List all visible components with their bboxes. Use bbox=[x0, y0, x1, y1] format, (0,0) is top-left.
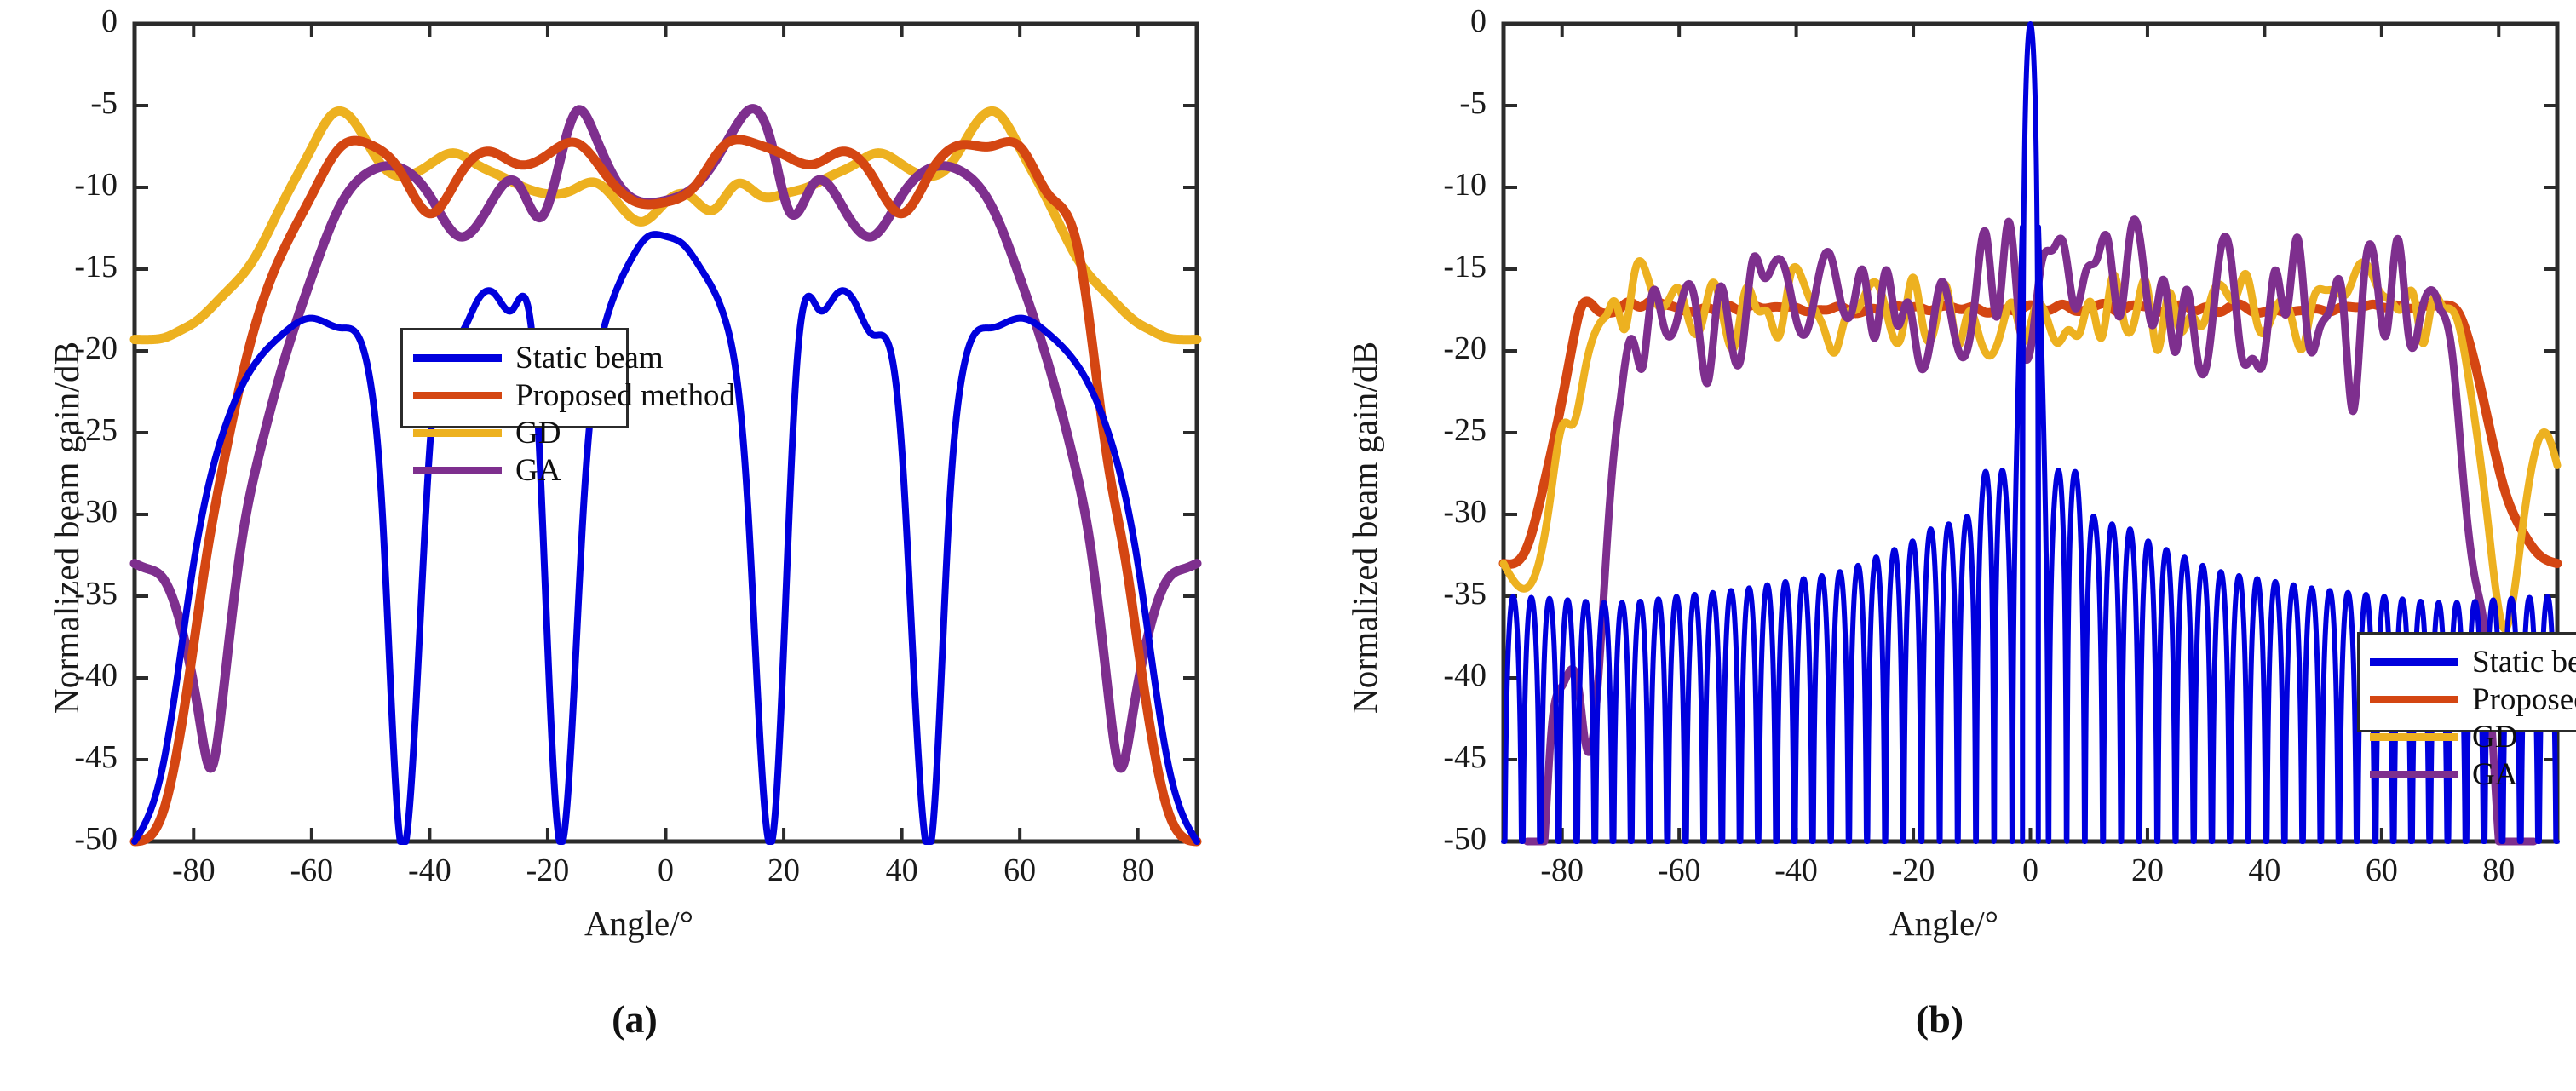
x-tick-label: -40 bbox=[378, 852, 480, 889]
x-tick-label: -20 bbox=[1862, 852, 1964, 889]
y-tick-label: -25 bbox=[1376, 411, 1486, 449]
x-tick-label: -80 bbox=[1511, 852, 1613, 889]
legend-color-swatch bbox=[2370, 733, 2458, 741]
y-tick-label: -35 bbox=[1376, 575, 1486, 612]
y-tick-label: 0 bbox=[7, 3, 118, 40]
legend-item[interactable]: Static beam bbox=[2360, 643, 2576, 680]
y-tick-label: -25 bbox=[7, 411, 118, 449]
legend-item[interactable]: Proposed method bbox=[403, 376, 626, 414]
x-tick-label: 0 bbox=[615, 852, 717, 889]
legend-item-label: Static beam bbox=[515, 342, 664, 374]
y-tick-label: -40 bbox=[1376, 657, 1486, 694]
legend-item[interactable]: GA bbox=[2360, 755, 2576, 793]
x-tick-label: 40 bbox=[851, 852, 953, 889]
legend-item-label: Proposed method bbox=[2472, 684, 2576, 715]
legend-item[interactable]: GD bbox=[2360, 718, 2576, 755]
y-tick-label: -45 bbox=[7, 738, 118, 776]
y-tick-label: -30 bbox=[7, 493, 118, 531]
beampattern-figure: Normalized beam gain/dB Angle/° (a) Stat… bbox=[0, 0, 2576, 1091]
y-tick-label: -10 bbox=[1376, 166, 1486, 204]
x-tick-label: -60 bbox=[1628, 852, 1730, 889]
legend-color-swatch bbox=[413, 467, 502, 474]
y-tick-label: -5 bbox=[7, 84, 118, 122]
x-tick-label: -60 bbox=[261, 852, 363, 889]
y-tick-label: -40 bbox=[7, 657, 118, 694]
y-tick-label: -45 bbox=[1376, 738, 1486, 776]
y-tick-label: -15 bbox=[1376, 248, 1486, 285]
panel-b-caption: (b) bbox=[1884, 996, 1995, 1042]
legend-item[interactable]: Proposed method bbox=[2360, 680, 2576, 718]
panel-b-legend: Static beamProposed methodGDGA bbox=[2357, 632, 2576, 732]
y-tick-label: -20 bbox=[7, 330, 118, 367]
x-tick-label: -80 bbox=[142, 852, 244, 889]
panel-b-x-axis-label: Angle/° bbox=[1833, 903, 2055, 944]
legend-color-swatch bbox=[413, 392, 502, 399]
y-tick-label: -50 bbox=[7, 820, 118, 858]
legend-color-swatch bbox=[413, 354, 502, 362]
legend-color-swatch bbox=[2370, 771, 2458, 778]
legend-color-swatch bbox=[413, 429, 502, 437]
panel-a: Normalized beam gain/dB Angle/° (a) Stat… bbox=[0, 0, 1288, 1091]
y-tick-label: -10 bbox=[7, 166, 118, 204]
y-tick-label: -20 bbox=[1376, 330, 1486, 367]
y-tick-label: -35 bbox=[7, 575, 118, 612]
x-tick-label: 20 bbox=[2096, 852, 2199, 889]
legend-item-label: Proposed method bbox=[515, 380, 735, 411]
y-tick-label: -30 bbox=[1376, 493, 1486, 531]
x-tick-label: 60 bbox=[969, 852, 1071, 889]
x-tick-label: -40 bbox=[1745, 852, 1848, 889]
legend-item[interactable]: Static beam bbox=[403, 339, 626, 376]
x-tick-label: 80 bbox=[2447, 852, 2550, 889]
legend-color-swatch bbox=[2370, 658, 2458, 666]
y-tick-label: -50 bbox=[1376, 820, 1486, 858]
y-tick-label: -15 bbox=[7, 248, 118, 285]
legend-color-swatch bbox=[2370, 696, 2458, 703]
legend-item-label: GA bbox=[515, 455, 561, 486]
x-tick-label: 60 bbox=[2331, 852, 2433, 889]
x-tick-label: 40 bbox=[2213, 852, 2315, 889]
legend-item[interactable]: GD bbox=[403, 414, 626, 451]
panel-a-legend: Static beamProposed methodGDGA bbox=[400, 328, 629, 428]
x-tick-label: 80 bbox=[1087, 852, 1189, 889]
legend-item-label: GD bbox=[515, 417, 561, 449]
panel-a-caption: (a) bbox=[579, 996, 690, 1042]
panel-b: Angle/° (b) Static beamProposed methodGD… bbox=[1288, 0, 2576, 1091]
legend-item[interactable]: GA bbox=[403, 451, 626, 489]
x-tick-label: -20 bbox=[497, 852, 599, 889]
panel-a-x-axis-label: Angle/° bbox=[528, 903, 750, 944]
legend-item-label: Static beam bbox=[2472, 646, 2576, 678]
y-tick-label: 0 bbox=[1376, 3, 1486, 40]
y-tick-label: -5 bbox=[1376, 84, 1486, 122]
legend-item-label: GA bbox=[2472, 759, 2517, 790]
x-tick-label: 20 bbox=[733, 852, 835, 889]
legend-item-label: GD bbox=[2472, 721, 2517, 753]
x-tick-label: 0 bbox=[1980, 852, 2082, 889]
